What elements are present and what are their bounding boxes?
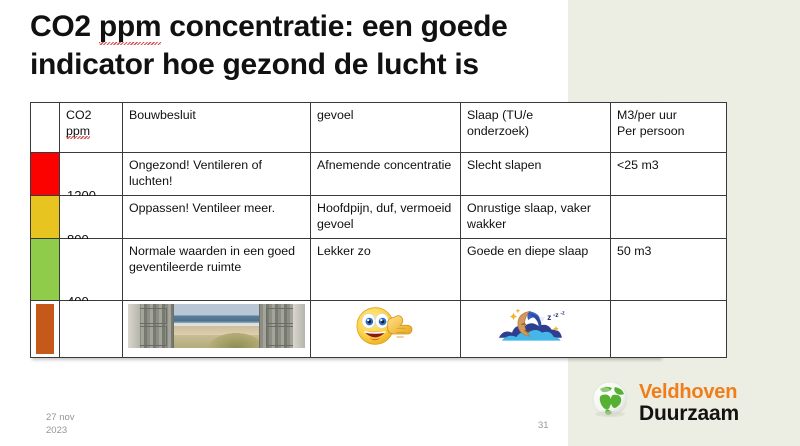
- header-gevoel: gevoel: [311, 103, 461, 153]
- cell-slaap-green: Goede en diepe slaap: [461, 239, 611, 301]
- logo-text-veldhoven: Veldhoven: [639, 382, 739, 402]
- dune-grass: [209, 333, 262, 348]
- cell-bouwbesluit-yellow: Oppassen! Ventileer meer.: [123, 196, 311, 239]
- sea-foam: [172, 323, 261, 326]
- cell-bouwbesluit-red: Ongezond! Ventileren of luchten!: [123, 153, 311, 196]
- table-header-row: CO2 ppm Bouwbesluit gevoel Slaap (TU/e o…: [31, 103, 727, 153]
- header-m3-line2: Per persoon: [617, 124, 685, 138]
- footer-date-line2: 2023: [46, 425, 67, 436]
- header-m3-per-uur: M3/per uur Per persoon: [611, 103, 727, 153]
- cell-gevoel-green: Lekker zo: [311, 239, 461, 301]
- ppm-scale-cell-400: 400: [60, 239, 123, 301]
- header-m3-line1: M3/per uur: [617, 108, 677, 122]
- ppm-scale-cell-bottom: [60, 301, 123, 358]
- color-band-green: [31, 239, 60, 301]
- logo-text: Veldhoven Duurzaam: [639, 382, 739, 424]
- color-band-red: [31, 153, 60, 196]
- footer-date-line1: 27 nov: [46, 412, 75, 423]
- slide-canvas: CO2 ppm concentratie: een goede indicato…: [0, 0, 800, 446]
- svg-text:-z: -z: [560, 310, 565, 316]
- ppm-scale-cell-1200: 1200: [60, 153, 123, 196]
- table-row: 1200 Ongezond! Ventileren of luchten! Af…: [31, 153, 727, 196]
- footer-date: 27 nov 2023: [46, 412, 75, 438]
- cell-gevoel-yellow: Hoofdpijn, duf, vermoeid gevoel: [311, 196, 461, 239]
- thumbs-up-smiley-icon: [316, 304, 455, 348]
- green-globe-icon: [588, 378, 632, 427]
- red-band-fill: [31, 153, 59, 195]
- color-band-orange: [31, 301, 60, 358]
- scale-header-blank: [31, 103, 59, 152]
- table-row: z -z -z: [31, 301, 727, 358]
- table-row: 400 Normale waarden in een goed geventil…: [31, 239, 727, 301]
- header-co2-ppm-line1: CO2: [66, 108, 91, 122]
- cell-m3-red: <25 m3: [611, 153, 727, 196]
- cell-m3-orange: [611, 301, 727, 358]
- yellow-band-fill: [31, 196, 59, 238]
- header-slaap-line2: onderzoek): [467, 124, 529, 138]
- cell-m3-green: 50 m3: [611, 239, 727, 301]
- header-co2-ppm-line2: ppm: [66, 123, 90, 139]
- title-line-2: indicator hoe gezond de lucht is: [30, 48, 479, 81]
- logo-text-duurzaam: Duurzaam: [639, 403, 739, 424]
- header-slaap-line1: Slaap (TU/e: [467, 108, 533, 122]
- cell-gevoel-red: Afnemende concentratie: [311, 153, 461, 196]
- cell-bouwbesluit-green: Normale waarden in een goed geventileerd…: [123, 239, 311, 301]
- header-co2-ppm: CO2 ppm: [60, 103, 123, 153]
- misspelled-word-ppm: ppm: [99, 8, 161, 46]
- cell-bouwbesluit-image: [123, 301, 311, 358]
- orange-band-fill: [36, 304, 54, 354]
- page-number: 31: [538, 420, 549, 431]
- sleeping-moon-zzz-icon: z -z -z: [466, 304, 605, 348]
- cell-slaap-red: Slecht slapen: [461, 153, 611, 196]
- page-title: CO2 ppm concentratie: een goede indicato…: [30, 8, 590, 85]
- cell-slaap-image: z -z -z: [461, 301, 611, 358]
- veldhoven-duurzaam-logo: Veldhoven Duurzaam: [588, 378, 739, 427]
- svg-text:z: z: [547, 313, 551, 322]
- ppm-scale-cell-800: 800: [60, 196, 123, 239]
- color-band-yellow: [31, 196, 60, 239]
- door-jamb-left: [128, 304, 140, 348]
- header-bouwbesluit: Bouwbesluit: [123, 103, 311, 153]
- green-band-fill: [31, 239, 59, 300]
- door-jamb-right: [293, 304, 305, 348]
- svg-text:-z: -z: [553, 312, 559, 319]
- title-line-1: CO2 ppm concentratie: een goede: [30, 10, 508, 43]
- cell-slaap-yellow: Onrustige slaap, vaker wakker: [461, 196, 611, 239]
- co2-concentration-table: CO2 ppm Bouwbesluit gevoel Slaap (TU/e o…: [30, 102, 727, 358]
- header-slaap: Slaap (TU/e onderzoek): [461, 103, 611, 153]
- table-row: 800 Oppassen! Ventileer meer. Hoofdpijn,…: [31, 196, 727, 239]
- co2-table-container: CO2 ppm Bouwbesluit gevoel Slaap (TU/e o…: [30, 102, 660, 358]
- cell-m3-yellow: [611, 196, 727, 239]
- cell-gevoel-image: [311, 301, 461, 358]
- open-doors-beach-photo: [128, 304, 305, 348]
- scale-header-cell: [31, 103, 60, 153]
